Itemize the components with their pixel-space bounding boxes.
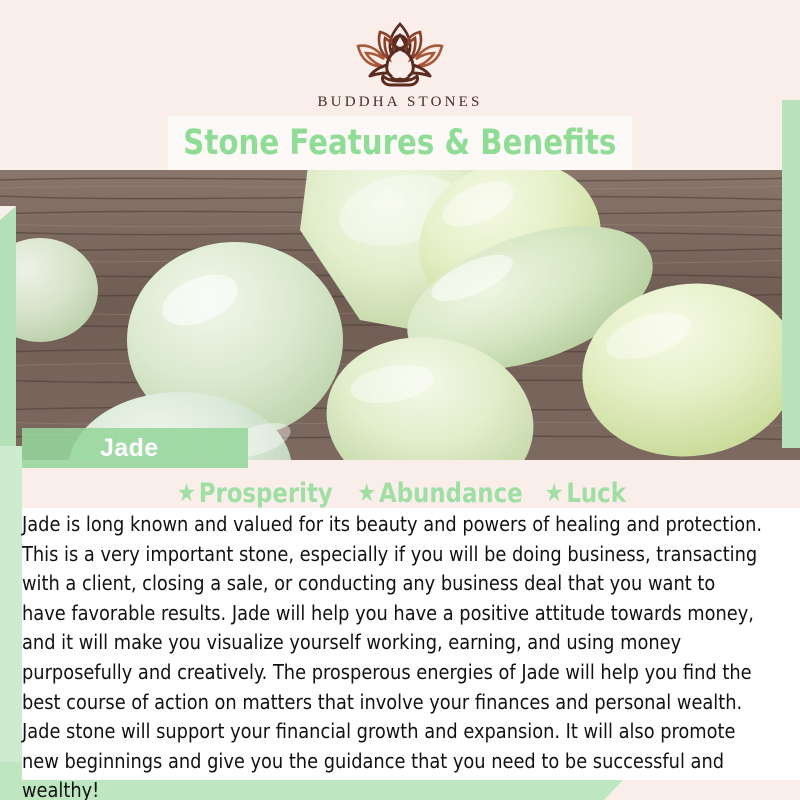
title-banner: Stone Features & Benefits <box>168 116 632 170</box>
stone-label: Jade <box>100 434 159 463</box>
stone-label-band: Jade <box>22 428 248 468</box>
star-icon: ★ <box>544 478 563 507</box>
benefit-label: Abundance <box>379 478 523 509</box>
benefit-label: Luck <box>566 478 626 509</box>
brand-logo: BUDDHA STONES <box>0 18 800 111</box>
jade-stones-photo <box>0 170 800 460</box>
page-title: Stone Features & Benefits <box>183 123 616 163</box>
description-text: Jade is long known and valued for its be… <box>22 510 763 800</box>
benefit-luck: ★Luck <box>544 478 625 509</box>
infographic-page: BUDDHA STONES Stone Features & Benefits <box>0 0 800 800</box>
decorative-left-bar <box>0 206 16 446</box>
star-icon: ★ <box>357 478 376 507</box>
decorative-right-bar <box>782 100 800 448</box>
star-icon: ★ <box>177 478 196 507</box>
lotus-meditation-icon <box>325 18 475 90</box>
benefit-prosperity: ★Prosperity <box>177 478 333 509</box>
benefit-abundance: ★Abundance <box>357 478 522 509</box>
brand-name: BUDDHA STONES <box>0 94 800 111</box>
benefit-label: Prosperity <box>199 478 333 509</box>
photo-illustration <box>0 170 800 460</box>
benefits-row: ★Prosperity★Abundance★Luck <box>0 478 800 509</box>
